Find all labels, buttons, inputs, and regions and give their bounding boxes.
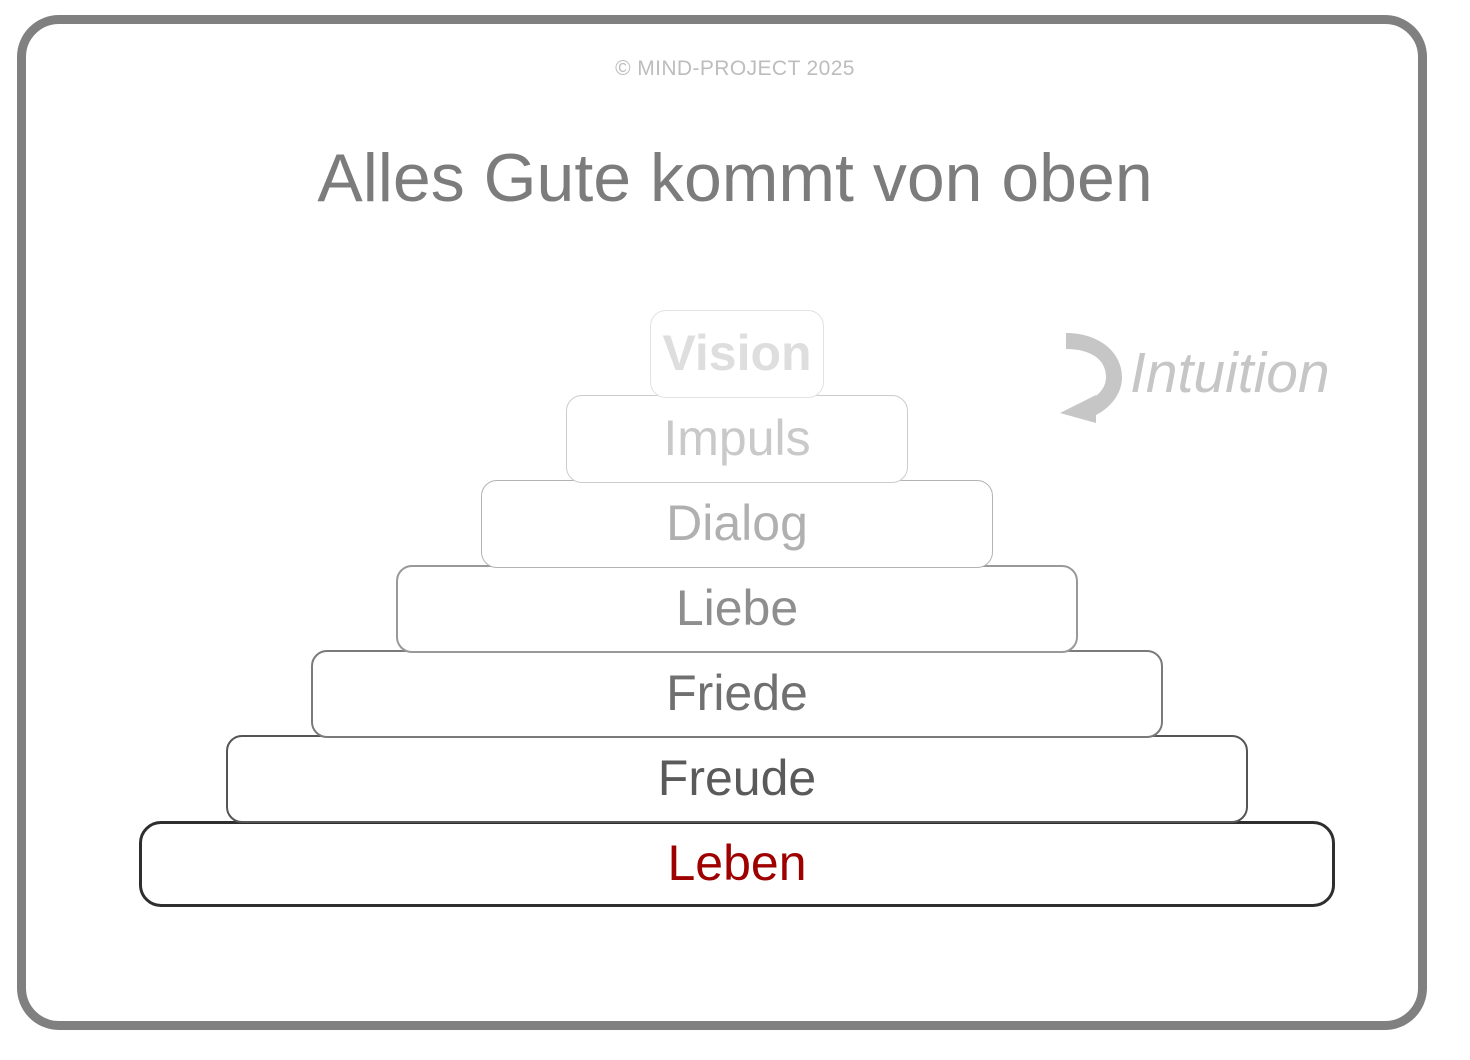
pyramid-diagram: Vision Impuls Dialog Liebe Friede Freude… (0, 0, 1470, 1060)
curved-arrow-icon (1052, 329, 1124, 423)
pyramid-tier-label: Impuls (663, 413, 810, 463)
pyramid-tier-impuls[interactable]: Impuls (566, 395, 908, 483)
pyramid-tier-freude[interactable]: Freude (226, 735, 1248, 823)
pyramid-tier-vision[interactable]: Vision (650, 310, 824, 398)
pyramid-tier-dialog[interactable]: Dialog (481, 480, 993, 568)
slide-canvas: © MIND-PROJECT 2025 Alles Gute kommt von… (0, 0, 1470, 1060)
pyramid-tier-label: Dialog (666, 498, 808, 548)
pyramid-tier-label: Leben (667, 838, 806, 888)
pyramid-tier-label: Friede (666, 668, 808, 718)
pyramid-tier-liebe[interactable]: Liebe (396, 565, 1078, 653)
pyramid-tier-label: Liebe (676, 583, 798, 633)
intuition-mark: Intuition (1052, 328, 1330, 424)
pyramid-tier-friede[interactable]: Friede (311, 650, 1163, 738)
intuition-label: Intuition (1130, 345, 1330, 408)
pyramid-tier-label: Vision (662, 328, 811, 378)
pyramid-tier-leben[interactable]: Leben (139, 821, 1335, 907)
pyramid-tier-label: Freude (658, 753, 816, 803)
